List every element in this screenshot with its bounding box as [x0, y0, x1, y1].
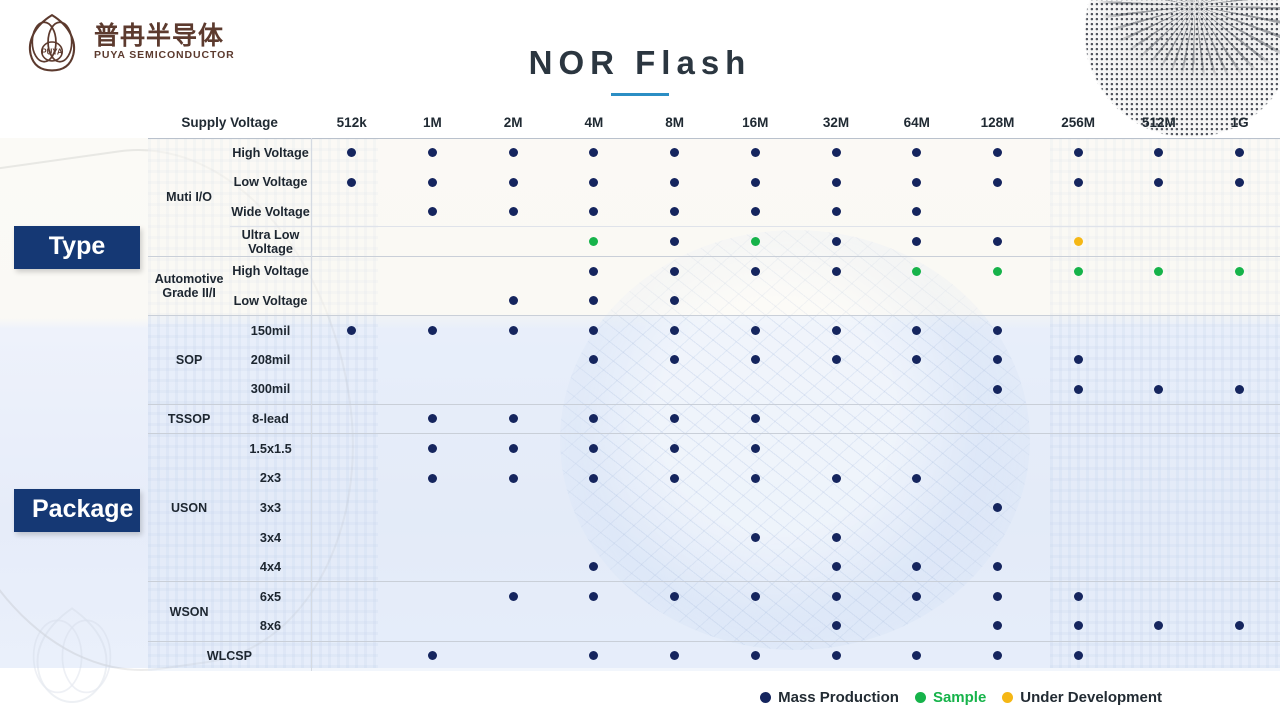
matrix-cell — [796, 612, 877, 642]
matrix-row: 3x3 — [148, 493, 1280, 523]
status-dot-mass — [1074, 178, 1083, 187]
status-dot-mass — [670, 237, 679, 246]
matrix-cell — [876, 404, 957, 434]
status-dot-mass — [993, 148, 1002, 157]
status-dot-mass — [347, 178, 356, 187]
matrix-cell — [715, 286, 796, 316]
status-dot-mass — [832, 326, 841, 335]
matrix-cell — [473, 493, 554, 523]
row-sub-label: 3x4 — [230, 523, 311, 553]
matrix-cell — [311, 197, 392, 227]
matrix-cell — [554, 612, 635, 642]
matrix-cell — [1199, 316, 1280, 346]
status-dot-sample — [1074, 267, 1083, 276]
matrix-cell — [1038, 404, 1119, 434]
status-dot-mass — [670, 592, 679, 601]
status-dot-sample — [912, 267, 921, 276]
status-dot-mass — [428, 414, 437, 423]
matrix-table: Supply Voltage 512k1M2M4M8M16M32M64M128M… — [148, 108, 1280, 671]
matrix-cell — [311, 641, 392, 671]
section-badge-type: Type — [14, 226, 140, 269]
status-dot-mass — [912, 562, 921, 571]
matrix-cell — [796, 404, 877, 434]
matrix-cell — [1199, 582, 1280, 612]
matrix-cell — [1199, 138, 1280, 168]
row-group-label: Muti I/O — [148, 138, 230, 256]
status-dot-mass — [589, 651, 598, 660]
matrix-cell — [1038, 227, 1119, 257]
matrix-cell — [392, 286, 473, 316]
status-dot-mass — [589, 267, 598, 276]
matrix-cell — [1199, 493, 1280, 523]
status-dot-mass — [912, 148, 921, 157]
status-dot-mass — [751, 207, 760, 216]
status-dot-mass — [428, 178, 437, 187]
matrix-cell — [473, 641, 554, 671]
matrix-cell — [876, 316, 957, 346]
matrix-cell — [554, 286, 635, 316]
matrix-cell — [715, 227, 796, 257]
matrix-cell — [473, 168, 554, 198]
status-dot-mass — [912, 207, 921, 216]
status-dot-mass — [670, 178, 679, 187]
status-dot-mass — [670, 296, 679, 305]
status-dot-mass — [589, 326, 598, 335]
status-dot-mass — [1074, 385, 1083, 394]
matrix-cell — [715, 493, 796, 523]
column-header-512k: 512k — [311, 108, 392, 138]
matrix-cell — [311, 493, 392, 523]
legend-dot-sample — [915, 692, 926, 703]
matrix-cell — [554, 552, 635, 582]
matrix-header-row: Supply Voltage 512k1M2M4M8M16M32M64M128M… — [148, 108, 1280, 138]
matrix-cell — [796, 434, 877, 464]
matrix-cell — [1199, 375, 1280, 405]
status-dot-mass — [589, 207, 598, 216]
matrix-cell — [634, 641, 715, 671]
matrix-cell — [715, 552, 796, 582]
matrix-row: 300mil — [148, 375, 1280, 405]
status-dot-mass — [751, 651, 760, 660]
matrix-cell — [473, 197, 554, 227]
status-dot-mass — [993, 237, 1002, 246]
legend-item: Under Development — [1002, 689, 1162, 706]
matrix-cell — [1038, 582, 1119, 612]
status-dot-mass — [347, 148, 356, 157]
matrix-cell — [634, 552, 715, 582]
status-dot-mass — [912, 178, 921, 187]
status-dot-mass — [589, 444, 598, 453]
status-dot-mass — [993, 621, 1002, 630]
status-dot-mass — [1154, 178, 1163, 187]
matrix-cell — [634, 612, 715, 642]
matrix-cell — [473, 552, 554, 582]
column-header-128m: 128M — [957, 108, 1038, 138]
matrix-cell — [1199, 464, 1280, 494]
matrix-cell — [311, 138, 392, 168]
column-header-1m: 1M — [392, 108, 473, 138]
matrix-cell — [392, 582, 473, 612]
status-dot-mass — [751, 355, 760, 364]
matrix-cell — [1119, 552, 1200, 582]
matrix-cell — [1119, 375, 1200, 405]
matrix-cell — [957, 345, 1038, 375]
matrix-cell — [1119, 641, 1200, 671]
matrix-cell — [634, 286, 715, 316]
section-badge-package: Package — [14, 489, 140, 532]
puya-logo-watermark — [12, 594, 132, 714]
matrix-cell — [957, 256, 1038, 286]
matrix-cell — [1119, 493, 1200, 523]
header-supply-voltage: Supply Voltage — [148, 108, 311, 138]
matrix-cell — [796, 256, 877, 286]
matrix-row: Low Voltage — [148, 286, 1280, 316]
matrix-cell — [311, 582, 392, 612]
status-dot-dev — [1074, 237, 1083, 246]
matrix-cell — [876, 493, 957, 523]
matrix-cell — [554, 256, 635, 286]
matrix-cell — [311, 464, 392, 494]
status-dot-mass — [589, 355, 598, 364]
matrix-cell — [311, 612, 392, 642]
matrix-cell — [554, 197, 635, 227]
matrix-cell — [876, 197, 957, 227]
matrix-cell — [876, 227, 957, 257]
row-group-label: WLCSP — [148, 641, 311, 671]
matrix-row: WSON6x5 — [148, 582, 1280, 612]
matrix-header: Supply Voltage 512k1M2M4M8M16M32M64M128M… — [148, 108, 1280, 138]
matrix-cell — [876, 641, 957, 671]
status-dot-mass — [751, 414, 760, 423]
status-dot-mass — [912, 592, 921, 601]
column-header-512m: 512M — [1119, 108, 1200, 138]
matrix-cell — [554, 168, 635, 198]
matrix-cell — [554, 493, 635, 523]
status-dot-mass — [670, 651, 679, 660]
matrix-cell — [1038, 138, 1119, 168]
legend-label: Under Development — [1020, 689, 1162, 706]
matrix-cell — [473, 138, 554, 168]
row-sub-label: 2x3 — [230, 464, 311, 494]
status-dot-mass — [832, 267, 841, 276]
matrix-cell — [392, 375, 473, 405]
legend-item: Mass Production — [760, 689, 899, 706]
matrix-cell — [634, 434, 715, 464]
status-dot-mass — [993, 562, 1002, 571]
status-dot-mass — [428, 326, 437, 335]
matrix-cell — [392, 138, 473, 168]
status-dot-mass — [589, 414, 598, 423]
matrix-cell — [1199, 256, 1280, 286]
matrix-cell — [473, 256, 554, 286]
matrix-cell — [957, 552, 1038, 582]
matrix-cell — [715, 434, 796, 464]
legend-dot-dev — [1002, 692, 1013, 703]
matrix-cell — [957, 168, 1038, 198]
status-dot-mass — [832, 178, 841, 187]
matrix-cell — [392, 493, 473, 523]
status-dot-mass — [589, 474, 598, 483]
status-dot-mass — [509, 592, 518, 601]
matrix-cell — [876, 523, 957, 553]
matrix-cell — [957, 227, 1038, 257]
status-dot-mass — [993, 385, 1002, 394]
matrix-cell — [1199, 227, 1280, 257]
matrix-cell — [1038, 641, 1119, 671]
matrix-cell — [796, 582, 877, 612]
matrix-cell — [1199, 523, 1280, 553]
status-dot-mass — [509, 444, 518, 453]
matrix-cell — [1199, 552, 1280, 582]
matrix-cell — [1119, 168, 1200, 198]
matrix-cell — [796, 197, 877, 227]
status-dot-mass — [428, 444, 437, 453]
status-dot-mass — [1074, 621, 1083, 630]
matrix-cell — [554, 404, 635, 434]
matrix-row: SOP150mil — [148, 316, 1280, 346]
row-sub-label: High Voltage — [230, 138, 311, 168]
status-dot-mass — [589, 178, 598, 187]
status-dot-mass — [832, 237, 841, 246]
matrix-cell — [1038, 612, 1119, 642]
matrix-cell — [473, 612, 554, 642]
row-sub-label: 8x6 — [230, 612, 311, 642]
status-dot-mass — [993, 592, 1002, 601]
status-dot-mass — [751, 148, 760, 157]
matrix-cell — [473, 345, 554, 375]
column-header-16m: 16M — [715, 108, 796, 138]
status-dot-mass — [589, 592, 598, 601]
row-sub-label: 4x4 — [230, 552, 311, 582]
status-dot-mass — [670, 148, 679, 157]
matrix-cell — [715, 582, 796, 612]
legend-label: Sample — [933, 689, 986, 706]
legend-dot-mass — [760, 692, 771, 703]
status-dot-mass — [993, 651, 1002, 660]
matrix-cell — [1119, 612, 1200, 642]
matrix-cell — [473, 286, 554, 316]
matrix-cell — [554, 641, 635, 671]
status-dot-mass — [912, 474, 921, 483]
matrix-cell — [554, 345, 635, 375]
matrix-cell — [392, 316, 473, 346]
matrix-cell — [796, 641, 877, 671]
matrix-cell — [473, 404, 554, 434]
matrix-cell — [1038, 286, 1119, 316]
matrix-cell — [634, 316, 715, 346]
matrix-cell — [634, 404, 715, 434]
matrix-cell — [1119, 582, 1200, 612]
matrix-cell — [876, 552, 957, 582]
matrix-row: USON1.5x1.5 — [148, 434, 1280, 464]
matrix-cell — [1119, 138, 1200, 168]
matrix-cell — [554, 582, 635, 612]
legend: Mass ProductionSampleUnder Development — [760, 689, 1162, 706]
status-dot-sample — [1154, 267, 1163, 276]
slide-canvas: PUYA 普冉半导体 PUYA SEMICONDUCTOR NOR Flash … — [0, 0, 1280, 718]
matrix-cell — [957, 434, 1038, 464]
matrix-cell — [392, 434, 473, 464]
matrix-row: Low Voltage — [148, 168, 1280, 198]
matrix-cell — [311, 168, 392, 198]
status-dot-mass — [428, 474, 437, 483]
row-group-label: TSSOP — [148, 404, 230, 434]
column-header-256m: 256M — [1038, 108, 1119, 138]
title-underline — [611, 93, 669, 96]
status-dot-mass — [832, 592, 841, 601]
status-dot-mass — [832, 207, 841, 216]
matrix-cell — [1119, 464, 1200, 494]
matrix-cell — [876, 138, 957, 168]
matrix-cell — [311, 256, 392, 286]
matrix-cell — [473, 523, 554, 553]
matrix-cell — [796, 168, 877, 198]
matrix-cell — [1119, 523, 1200, 553]
matrix-cell — [715, 197, 796, 227]
matrix-cell — [311, 523, 392, 553]
matrix-cell — [715, 375, 796, 405]
matrix-row: TSSOP8-lead — [148, 404, 1280, 434]
status-dot-mass — [1235, 148, 1244, 157]
matrix-cell — [1199, 286, 1280, 316]
matrix-cell — [715, 641, 796, 671]
matrix-cell — [554, 375, 635, 405]
matrix-cell — [876, 434, 957, 464]
matrix-cell — [1199, 641, 1280, 671]
status-dot-mass — [509, 178, 518, 187]
column-header-32m: 32M — [796, 108, 877, 138]
matrix-cell — [876, 375, 957, 405]
status-dot-mass — [832, 148, 841, 157]
matrix-cell — [634, 227, 715, 257]
row-group-label: SOP — [148, 316, 230, 405]
status-dot-mass — [751, 533, 760, 542]
matrix-cell — [392, 464, 473, 494]
matrix-row: Muti I/OHigh Voltage — [148, 138, 1280, 168]
matrix-cell — [634, 168, 715, 198]
matrix-cell — [1038, 375, 1119, 405]
matrix-cell — [1119, 345, 1200, 375]
matrix-row: AutomotiveGrade II/IHigh Voltage — [148, 256, 1280, 286]
status-dot-mass — [509, 207, 518, 216]
matrix-row: WLCSP — [148, 641, 1280, 671]
matrix-cell — [473, 582, 554, 612]
matrix-cell — [1038, 256, 1119, 286]
matrix-cell — [715, 612, 796, 642]
matrix-cell — [876, 286, 957, 316]
status-dot-mass — [509, 474, 518, 483]
status-dot-mass — [832, 621, 841, 630]
matrix-cell — [796, 138, 877, 168]
matrix-cell — [1119, 434, 1200, 464]
status-dot-mass — [589, 148, 598, 157]
status-dot-mass — [670, 355, 679, 364]
status-dot-mass — [428, 207, 437, 216]
status-dot-mass — [670, 474, 679, 483]
row-sub-label: 300mil — [230, 375, 311, 405]
status-dot-sample — [1235, 267, 1244, 276]
matrix-row: 208mil — [148, 345, 1280, 375]
matrix-cell — [554, 523, 635, 553]
column-header-64m: 64M — [876, 108, 957, 138]
row-sub-label: 208mil — [230, 345, 311, 375]
status-dot-mass — [1235, 178, 1244, 187]
row-sub-label: 8-lead — [230, 404, 311, 434]
status-dot-mass — [751, 592, 760, 601]
status-dot-mass — [670, 414, 679, 423]
matrix-cell — [1199, 197, 1280, 227]
status-dot-mass — [832, 355, 841, 364]
matrix-cell — [634, 582, 715, 612]
matrix-cell — [796, 316, 877, 346]
status-dot-mass — [751, 474, 760, 483]
matrix-cell — [634, 256, 715, 286]
status-dot-mass — [832, 651, 841, 660]
matrix-cell — [876, 168, 957, 198]
status-dot-mass — [751, 178, 760, 187]
matrix-cell — [554, 316, 635, 346]
matrix-cell — [634, 345, 715, 375]
matrix-cell — [796, 464, 877, 494]
status-dot-mass — [912, 326, 921, 335]
matrix-cell — [392, 552, 473, 582]
matrix-cell — [392, 256, 473, 286]
matrix-cell — [554, 464, 635, 494]
status-dot-mass — [1074, 148, 1083, 157]
status-dot-mass — [509, 326, 518, 335]
matrix-cell — [1038, 168, 1119, 198]
matrix-cell — [796, 552, 877, 582]
matrix-cell — [311, 316, 392, 346]
matrix-cell — [392, 197, 473, 227]
column-header-4m: 4M — [554, 108, 635, 138]
status-dot-mass — [912, 355, 921, 364]
row-sub-label: Wide Voltage — [230, 197, 311, 227]
status-dot-sample — [589, 237, 598, 246]
matrix-cell — [1038, 464, 1119, 494]
row-group-label: AutomotiveGrade II/I — [148, 256, 230, 315]
matrix-cell — [876, 464, 957, 494]
matrix-cell — [1119, 227, 1200, 257]
column-header-8m: 8M — [634, 108, 715, 138]
matrix-cell — [1119, 404, 1200, 434]
row-sub-label: 3x3 — [230, 493, 311, 523]
status-dot-mass — [751, 326, 760, 335]
matrix-cell — [554, 434, 635, 464]
status-dot-mass — [428, 651, 437, 660]
status-dot-mass — [912, 237, 921, 246]
matrix-cell — [311, 552, 392, 582]
compatibility-matrix: Supply Voltage 512k1M2M4M8M16M32M64M128M… — [148, 108, 1280, 671]
matrix-cell — [715, 523, 796, 553]
matrix-cell — [392, 523, 473, 553]
matrix-cell — [1119, 256, 1200, 286]
matrix-row: 4x4 — [148, 552, 1280, 582]
status-dot-mass — [509, 296, 518, 305]
status-dot-mass — [509, 414, 518, 423]
row-group-label: USON — [148, 434, 230, 582]
status-dot-mass — [1074, 651, 1083, 660]
status-dot-mass — [1154, 148, 1163, 157]
matrix-cell — [1038, 316, 1119, 346]
matrix-cell — [715, 256, 796, 286]
matrix-cell — [311, 227, 392, 257]
matrix-cell — [876, 345, 957, 375]
matrix-cell — [392, 168, 473, 198]
matrix-cell — [796, 493, 877, 523]
matrix-cell — [957, 523, 1038, 553]
status-dot-mass — [1074, 355, 1083, 364]
